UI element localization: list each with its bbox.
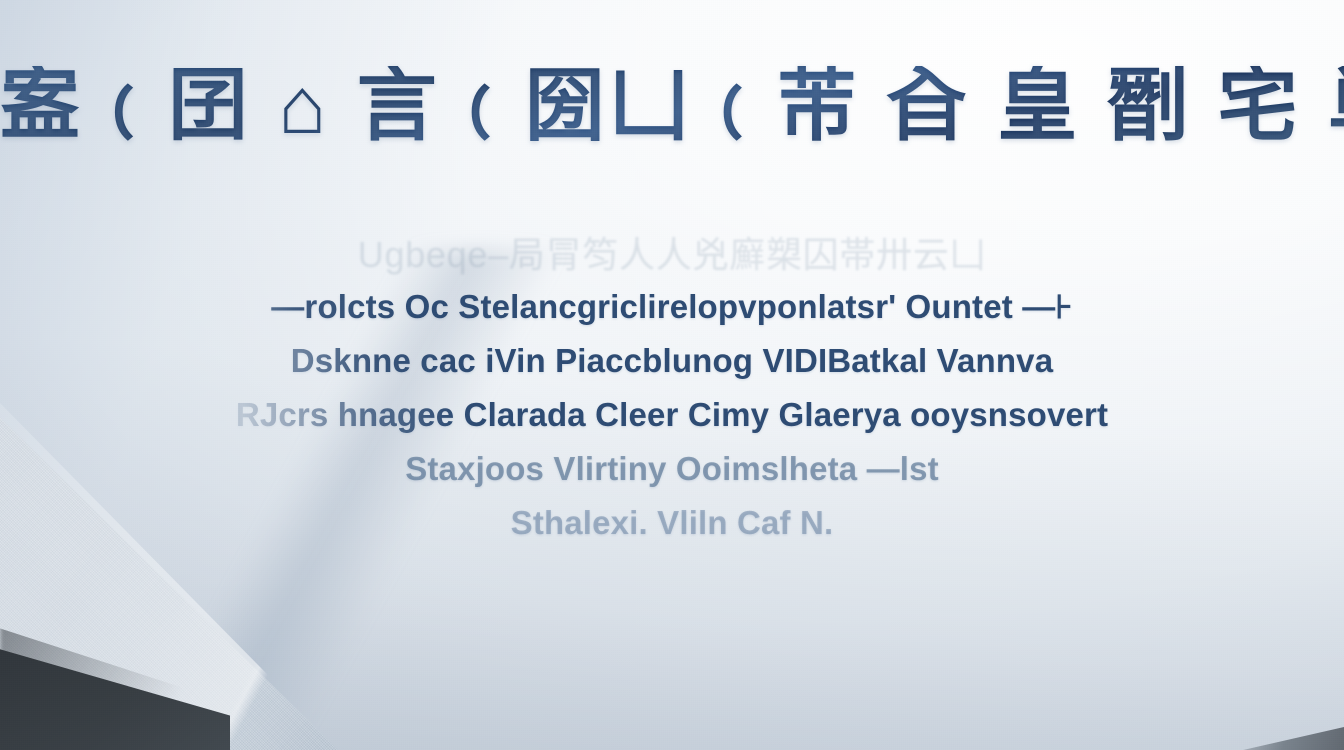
photo-scene: 䀂﹙囝 ⌂ 言﹙圀凵﹙芾 㒲 皇 㔆 宅 単 㝉 氜 Ugbeqe–局冐笉人人兇… [0,0,1344,750]
vignette-overlay [0,0,1344,750]
